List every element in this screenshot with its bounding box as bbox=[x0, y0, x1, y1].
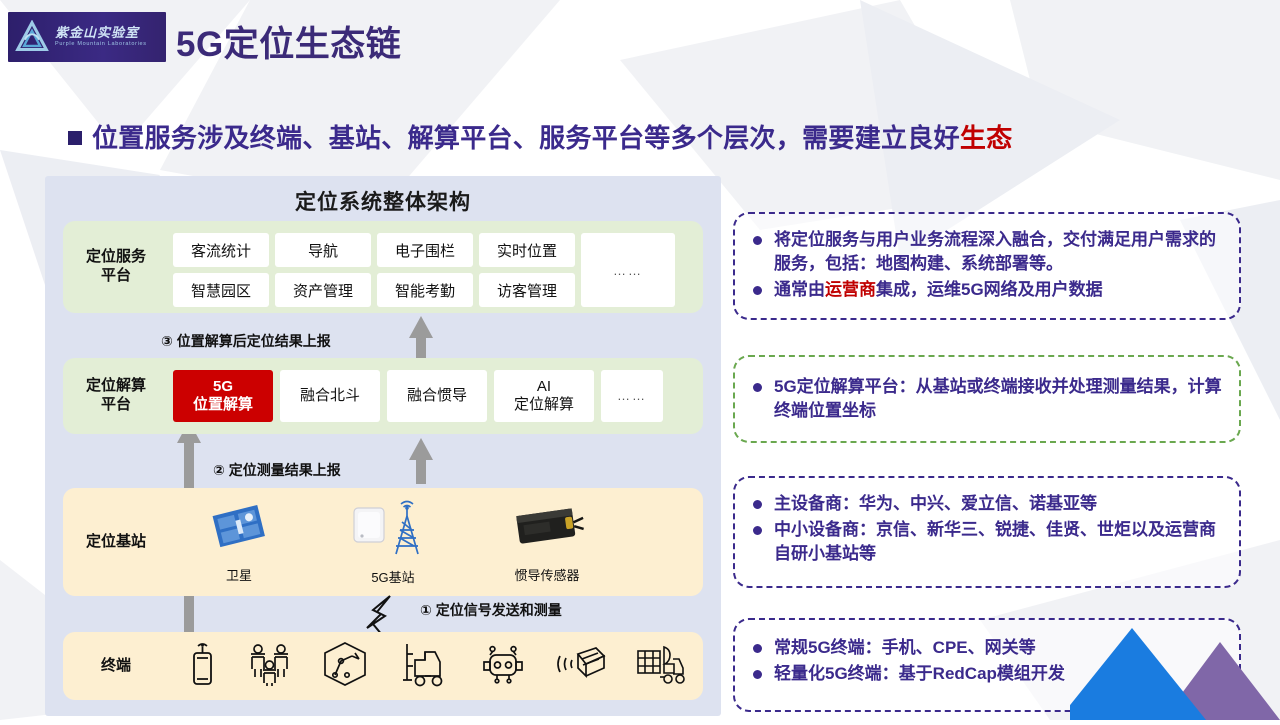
device-caption: 5G基站 bbox=[371, 567, 414, 586]
device-5g-base-station[interactable]: 5G基站 bbox=[337, 496, 449, 586]
workers-group-icon[interactable] bbox=[247, 641, 293, 692]
service-column: 客流统计 智慧园区 bbox=[173, 233, 269, 307]
terminal-devices bbox=[185, 632, 689, 700]
step-1-label: ① 定位信号发送和测量 bbox=[420, 600, 562, 620]
solving-cell-more: …… bbox=[601, 370, 663, 422]
step-2-label: ② 定位测量结果上报 bbox=[213, 460, 341, 480]
device-imu-sensor[interactable]: 惯导传感器 bbox=[491, 496, 603, 584]
robot-icon[interactable] bbox=[479, 641, 527, 692]
architecture-title: 定位系统整体架构 bbox=[45, 186, 721, 216]
device-caption: 卫星 bbox=[226, 565, 252, 584]
slide-header: 紫金山实验室 Purple Mountain Laboratories 5G定位… bbox=[0, 0, 1280, 80]
service-cell[interactable]: 导航 bbox=[275, 233, 371, 267]
rfid-tag-icon[interactable] bbox=[555, 642, 607, 691]
layer-label-base-station: 定位基站 bbox=[63, 488, 169, 596]
solving-cell[interactable]: AI 定位解算 bbox=[494, 370, 594, 422]
bullet-dot-icon bbox=[753, 500, 762, 509]
bullet-dot-icon bbox=[753, 644, 762, 653]
solving-cell[interactable]: 融合北斗 bbox=[280, 370, 380, 422]
robotic-arm-icon[interactable] bbox=[321, 641, 369, 692]
layer-base-station: 定位基站 bbox=[63, 488, 703, 596]
layer-label-solving-platform: 定位解算 平台 bbox=[63, 358, 169, 434]
bullet-dot-icon bbox=[753, 236, 762, 245]
5g-base-station-icon bbox=[350, 496, 436, 565]
callout-text: 中小设备商：京信、新华三、锐捷、佳贤、世炬以及运营商自研小基站等 bbox=[774, 518, 1223, 566]
solving-cell-5g[interactable]: 5G 位置解算 bbox=[173, 370, 273, 422]
service-platform-callout: 将定位服务与用户业务流程深入融合，交付满足用户需求的服务，包括：地图构建、系统部… bbox=[733, 212, 1241, 320]
triangle-knot-logo-icon bbox=[14, 20, 50, 54]
callout-bullet-item: 5G定位解算平台：从基站或终端接收并处理测量结果，计算终端位置坐标 bbox=[749, 375, 1223, 423]
architecture-panel: 定位系统整体架构 定位服务 平台 客流统计 智慧园区 导航 资产管理 电子围栏 … bbox=[45, 176, 721, 716]
solving-cell[interactable]: 融合惯导 bbox=[387, 370, 487, 422]
callout-text: 轻量化5G终端：基于RedCap模组开发 bbox=[774, 662, 1065, 686]
layer-label-service-platform: 定位服务 平台 bbox=[63, 221, 169, 313]
callout-bullet-item: 通常由运营商集成，运维5G网络及用户数据 bbox=[749, 278, 1223, 302]
page-title: 5G定位生态链 bbox=[176, 16, 401, 67]
forklift-icon[interactable] bbox=[397, 640, 451, 693]
step-2-arrow bbox=[408, 438, 434, 484]
callout-bullet-item: 常规5G终端：手机、CPE、网关等 bbox=[749, 636, 1223, 660]
bullet-dot-icon bbox=[753, 670, 762, 679]
service-cell[interactable]: 实时位置 bbox=[479, 233, 575, 267]
service-column: 实时位置 访客管理 bbox=[479, 233, 575, 307]
layer-terminal: 终端 bbox=[63, 632, 703, 700]
callout-bullet-item: 主设备商：华为、中兴、爱立信、诺基亚等 bbox=[749, 492, 1223, 516]
callout-text: 通常由运营商集成，运维5G网络及用户数据 bbox=[774, 278, 1103, 302]
logo-text-en: Purple Mountain Laboratories bbox=[55, 42, 147, 48]
layer-service-platform: 定位服务 平台 客流统计 智慧园区 导航 资产管理 电子围栏 智能考勤 实时位置… bbox=[63, 221, 703, 313]
square-bullet-icon bbox=[68, 131, 82, 145]
callout-text: 5G定位解算平台：从基站或终端接收并处理测量结果，计算终端位置坐标 bbox=[774, 375, 1223, 423]
imu-sensor-icon bbox=[504, 496, 590, 563]
base-station-devices: 卫星 bbox=[183, 496, 603, 586]
logo: 紫金山实验室 Purple Mountain Laboratories bbox=[8, 12, 166, 62]
bullet-dot-icon bbox=[753, 383, 762, 392]
service-capability-grid: 客流统计 智慧园区 导航 资产管理 电子围栏 智能考勤 实时位置 访客管理 …… bbox=[173, 233, 675, 307]
terminal-callout: 常规5G终端：手机、CPE、网关等 轻量化5G终端：基于RedCap模组开发 bbox=[733, 618, 1241, 712]
callout-text: 将定位服务与用户业务流程深入融合，交付满足用户需求的服务，包括：地图构建、系统部… bbox=[774, 228, 1223, 276]
callout-text: 主设备商：华为、中兴、爱立信、诺基亚等 bbox=[774, 492, 1097, 516]
service-cell[interactable]: 智能考勤 bbox=[377, 273, 473, 307]
callout-bullet-item: 将定位服务与用户业务流程深入融合，交付满足用户需求的服务，包括：地图构建、系统部… bbox=[749, 228, 1223, 276]
device-caption: 惯导传感器 bbox=[514, 565, 579, 584]
service-cell[interactable]: 访客管理 bbox=[479, 273, 575, 307]
solving-platform-callout: 5G定位解算平台：从基站或终端接收并处理测量结果，计算终端位置坐标 bbox=[733, 355, 1241, 443]
service-cell-more: …… bbox=[581, 233, 675, 307]
bullet-dot-icon bbox=[753, 286, 762, 295]
satellite-icon bbox=[204, 496, 274, 563]
subtitle-line: 位置服务涉及终端、基站、解算平台、服务平台等多个层次，需要建立良好生态 bbox=[68, 118, 1013, 155]
layer-label-terminal: 终端 bbox=[63, 632, 169, 700]
service-cell[interactable]: 客流统计 bbox=[173, 233, 269, 267]
logo-text-cn: 紫金山实验室 bbox=[55, 26, 147, 39]
callout-bullet-item: 中小设备商：京信、新华三、锐捷、佳贤、世炬以及运营商自研小基站等 bbox=[749, 518, 1223, 566]
callout-text: 常规5G终端：手机、CPE、网关等 bbox=[774, 636, 1036, 660]
smartphone-icon[interactable] bbox=[185, 641, 219, 692]
service-column: 电子围栏 智能考勤 bbox=[377, 233, 473, 307]
bullet-dot-icon bbox=[753, 526, 762, 535]
solving-capability-row: 5G 位置解算 融合北斗 融合惯导 AI 定位解算 …… bbox=[173, 370, 663, 422]
pallet-truck-icon[interactable] bbox=[635, 641, 689, 692]
service-column: 导航 资产管理 bbox=[275, 233, 371, 307]
service-cell[interactable]: 智慧园区 bbox=[173, 273, 269, 307]
base-station-callout: 主设备商：华为、中兴、爱立信、诺基亚等 中小设备商：京信、新华三、锐捷、佳贤、世… bbox=[733, 476, 1241, 588]
subtitle-highlight: 生态 bbox=[960, 123, 1013, 153]
step-3-label: ③ 位置解算后定位结果上报 bbox=[161, 331, 331, 351]
service-cell[interactable]: 电子围栏 bbox=[377, 233, 473, 267]
service-cell[interactable]: 资产管理 bbox=[275, 273, 371, 307]
callout-bullet-item: 轻量化5G终端：基于RedCap模组开发 bbox=[749, 662, 1223, 686]
subtitle-main: 位置服务涉及终端、基站、解算平台、服务平台等多个层次，需要建立良好 bbox=[92, 123, 960, 153]
layer-solving-platform: 定位解算 平台 5G 位置解算 融合北斗 融合惯导 AI 定位解算 …… bbox=[63, 358, 703, 434]
device-satellite[interactable]: 卫星 bbox=[183, 496, 295, 584]
